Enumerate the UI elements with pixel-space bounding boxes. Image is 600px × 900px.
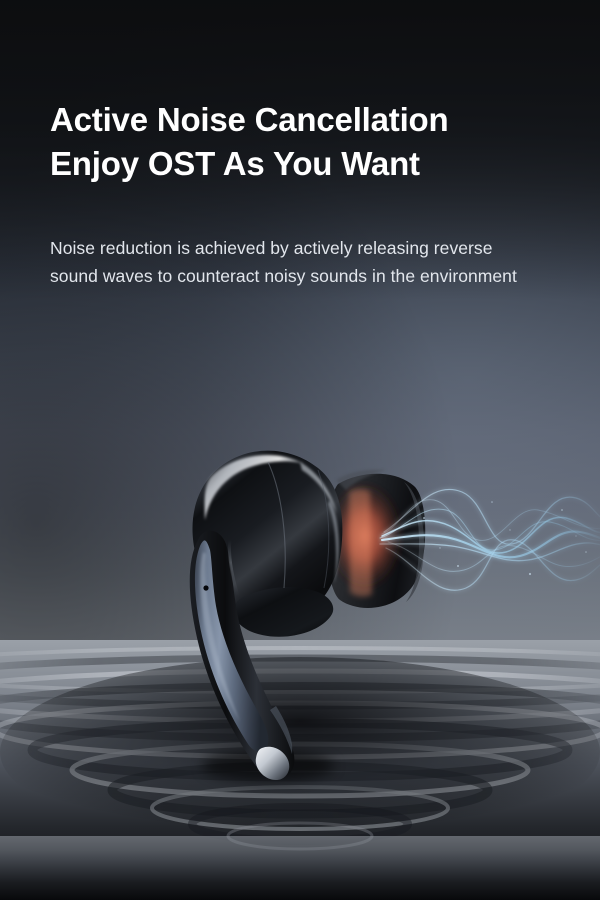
body-description: Noise reduction is achieved by actively …	[50, 234, 530, 291]
copy-block: Active Noise Cancellation Enjoy OST As Y…	[50, 98, 570, 290]
water-ripple-surface	[0, 640, 600, 900]
product-promo-banner: Active Noise Cancellation Enjoy OST As Y…	[0, 0, 600, 900]
headline-line-1: Active Noise Cancellation	[50, 98, 570, 142]
headline-line-2: Enjoy OST As You Want	[50, 142, 570, 186]
